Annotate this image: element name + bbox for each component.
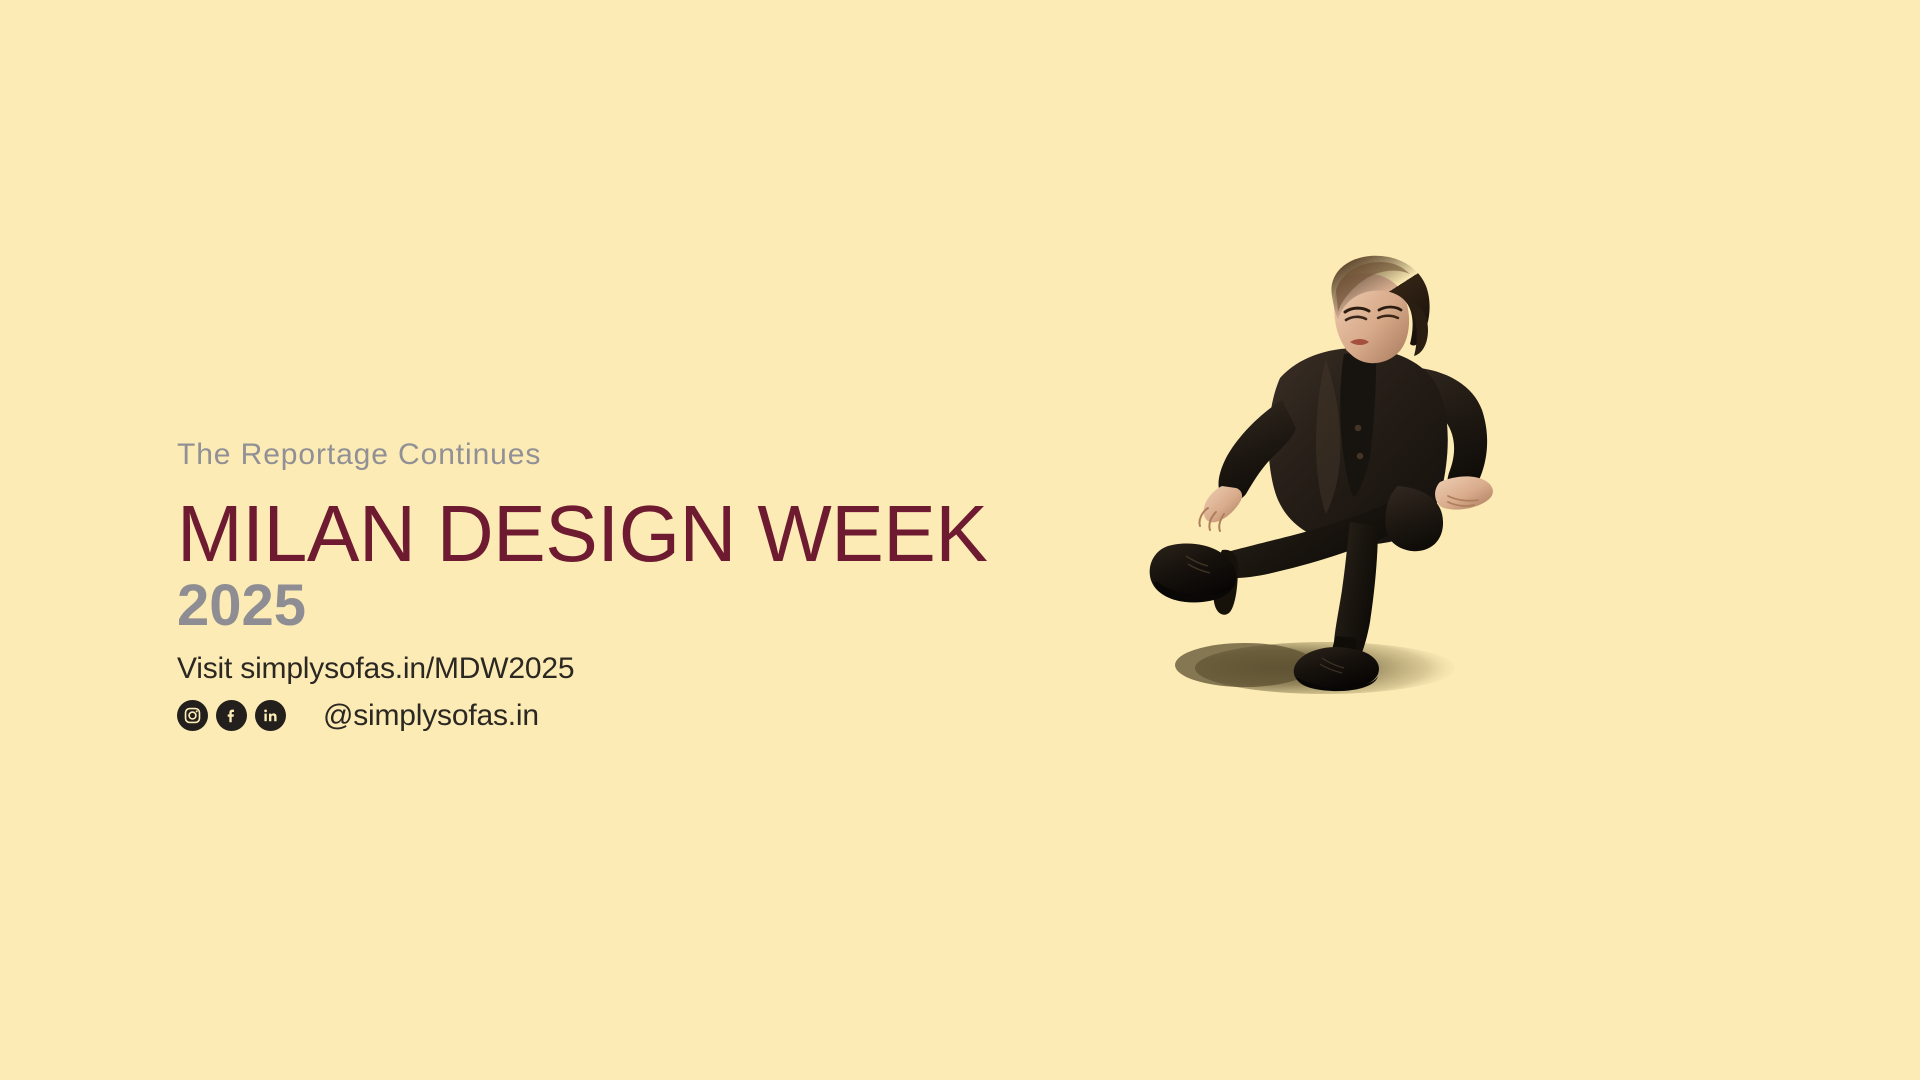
year-text: 2025 (177, 577, 1077, 635)
visit-url-text[interactable]: Visit simplysofas.in/MDW2025 (177, 654, 574, 684)
facebook-icon[interactable] (216, 700, 247, 731)
social-handle-text[interactable]: @simplysofas.in (323, 701, 539, 731)
instagram-icon[interactable] (177, 700, 208, 731)
headline-block: The Reportage Continues MILAN DESIGN WEE… (177, 440, 1077, 635)
social-row: @simplysofas.in (177, 700, 539, 731)
model-photo (1130, 250, 1660, 890)
page-title: MILAN DESIGN WEEK (177, 496, 1064, 571)
eyebrow-text: The Reportage Continues (177, 440, 1077, 470)
right-hand (1435, 476, 1493, 509)
banner-root: The Reportage Continues MILAN DESIGN WEE… (0, 0, 1920, 1080)
linkedin-icon[interactable] (255, 700, 286, 731)
